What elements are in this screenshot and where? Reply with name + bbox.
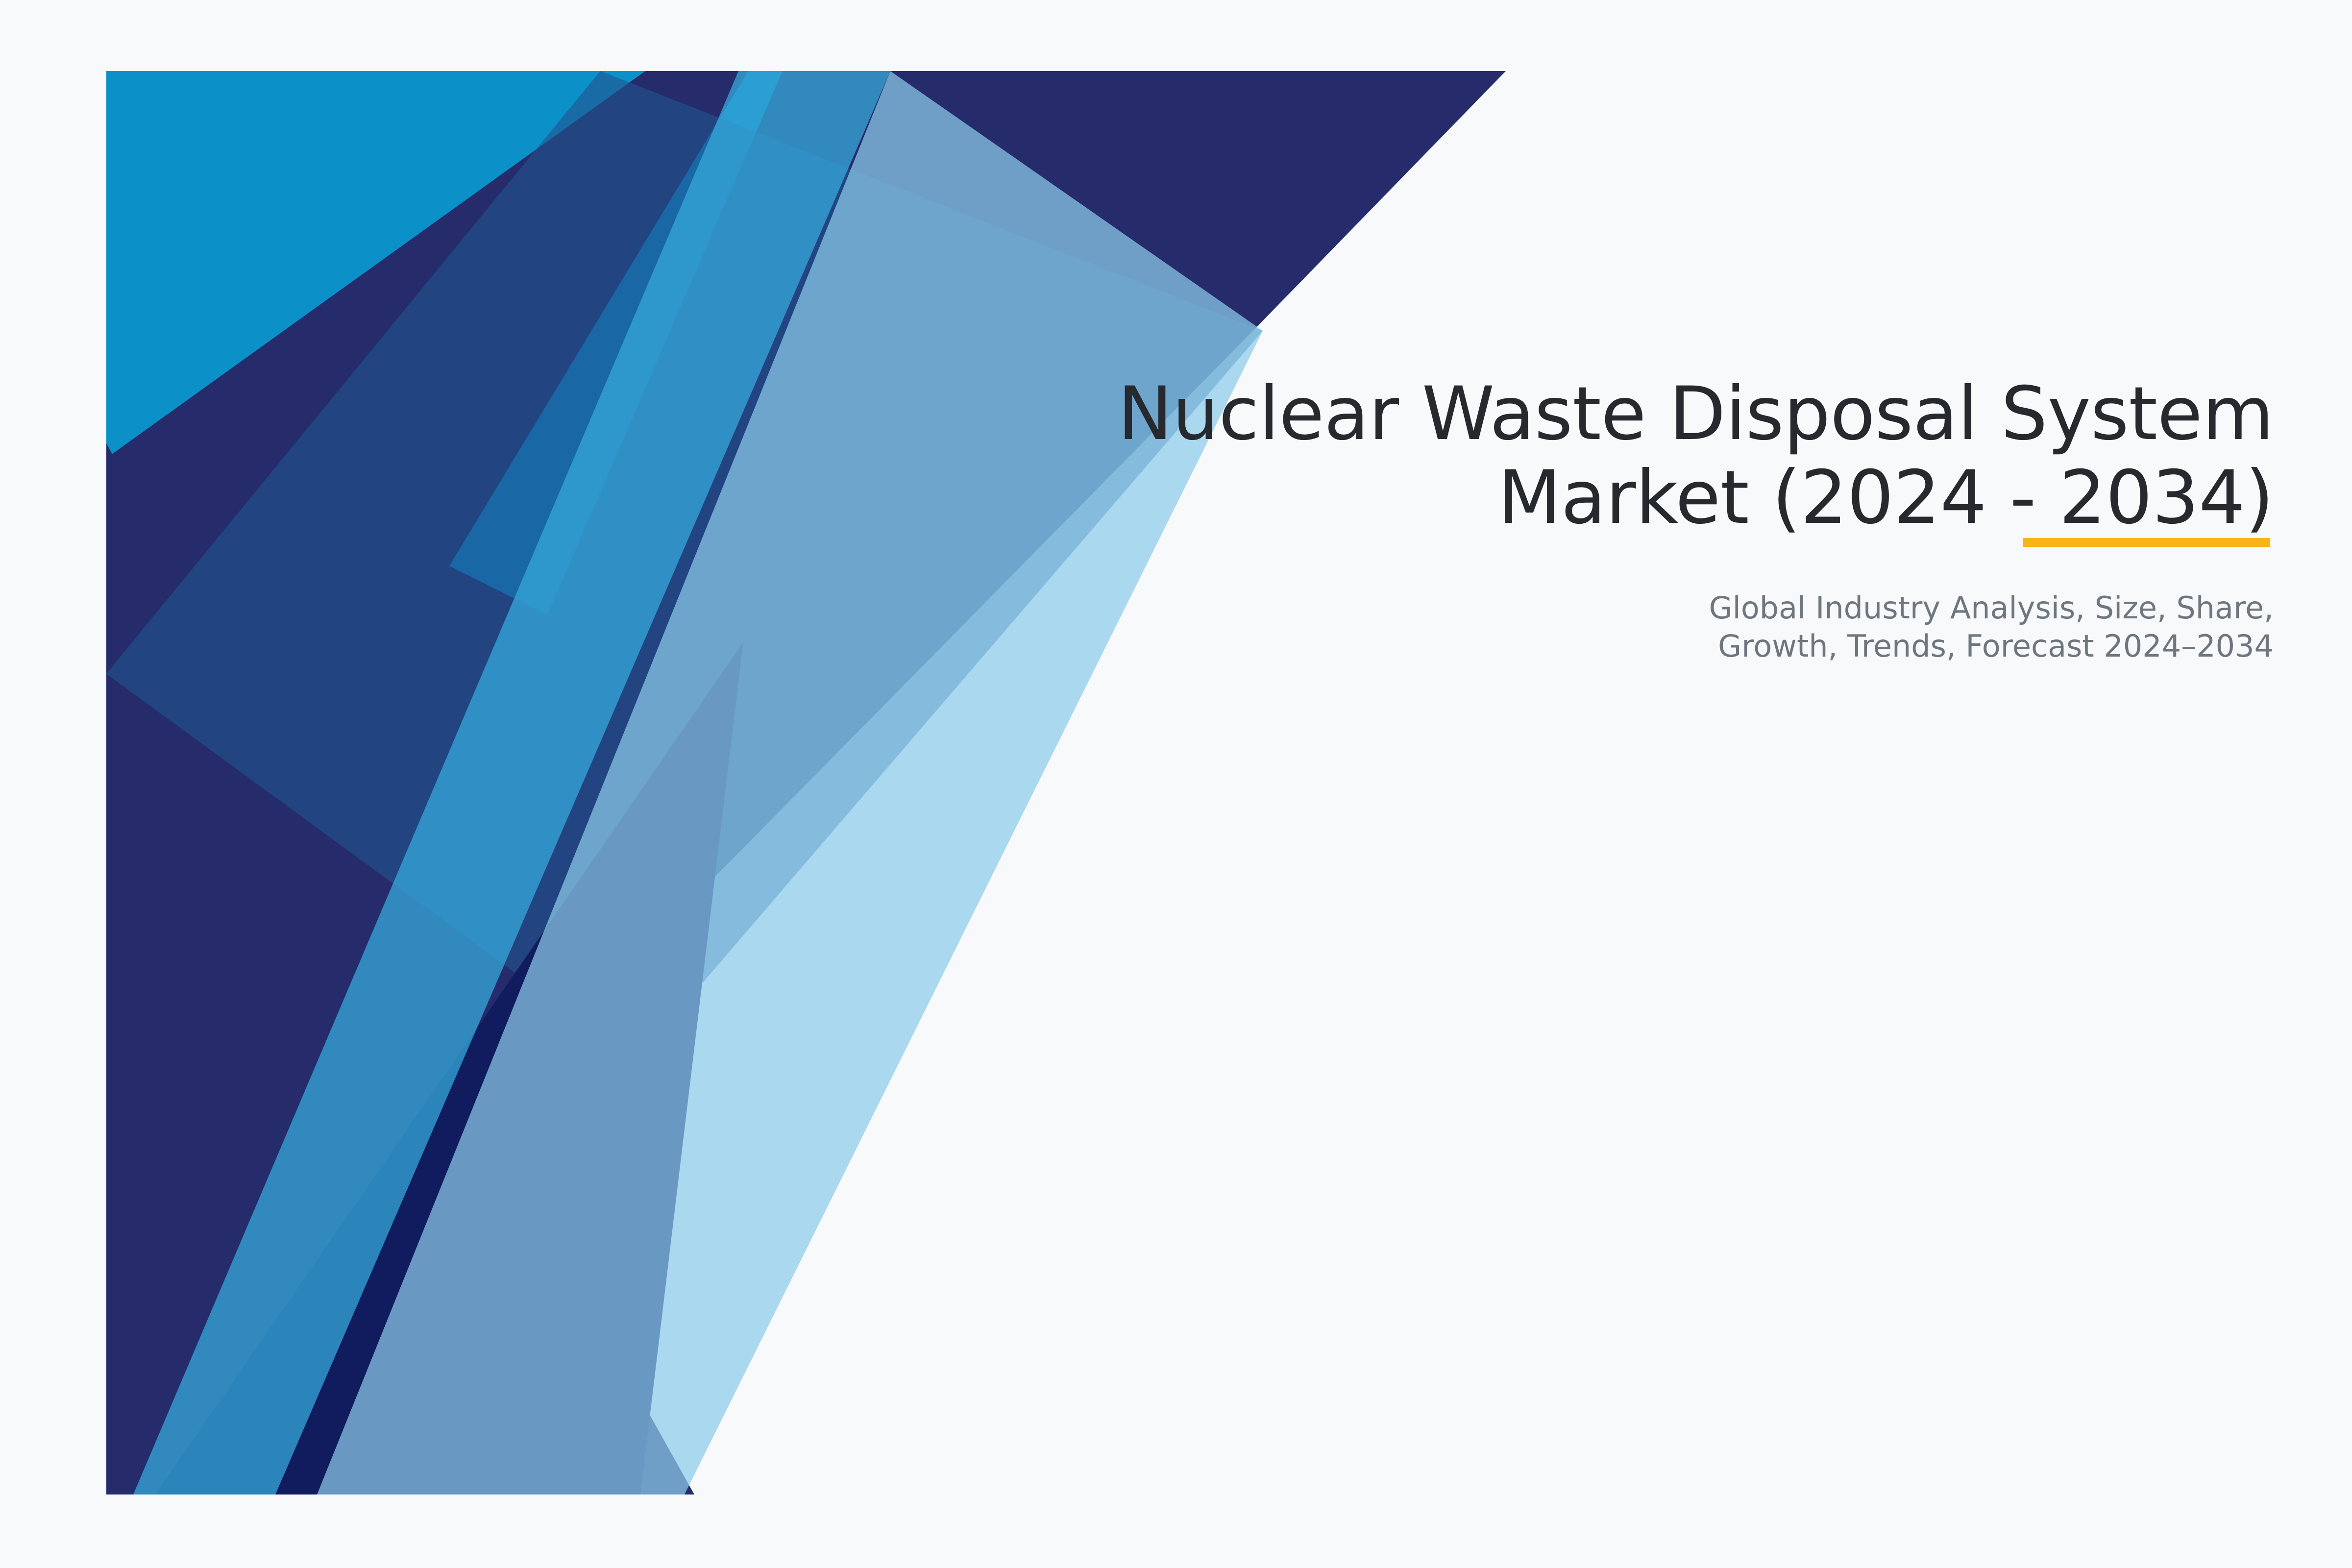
report-cover: Nuclear Waste Disposal System Market (20… — [0, 0, 2352, 1568]
page-title: Nuclear Waste Disposal System Market (20… — [1004, 372, 2274, 540]
artwork-canvas — [106, 71, 1506, 1494]
abstract-polygon-graphic — [106, 71, 1506, 1494]
cover-text-block: Nuclear Waste Disposal System Market (20… — [1004, 372, 2274, 665]
title-wrapper: Nuclear Waste Disposal System Market (20… — [1004, 372, 2274, 540]
page-subtitle: Global Industry Analysis, Size, Share, G… — [1656, 540, 2274, 665]
